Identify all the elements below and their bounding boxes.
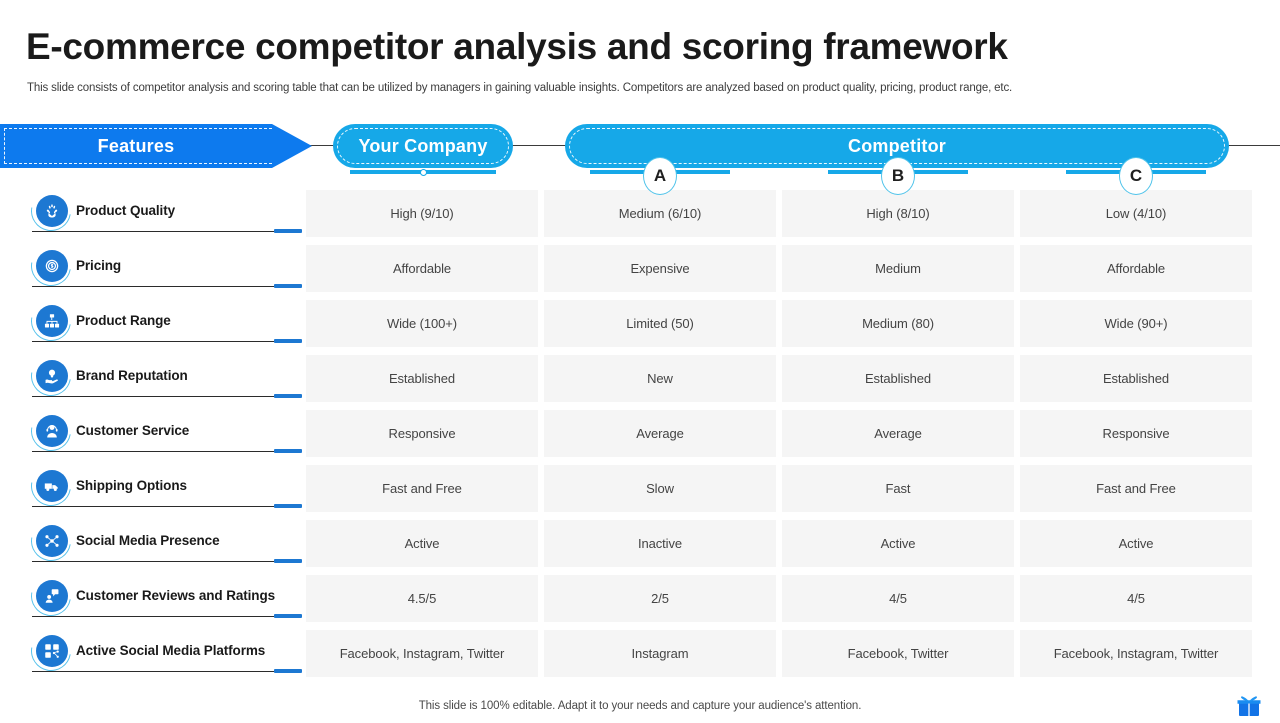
headset-agent-icon [36,415,68,447]
cell-text: Medium (6/10) [619,206,702,221]
feature-cell: Pricing [26,245,302,292]
cell-competitor-c: 4/5 [1020,575,1252,622]
cell-competitor-b: Average [782,410,1014,457]
cell-competitor-a: New [544,355,776,402]
table-row: Social Media Presence Active Inactive Ac… [0,520,1280,567]
table-row: Customer Reviews and Ratings 4.5/5 2/5 4… [0,575,1280,622]
cell-text: Established [389,371,455,386]
cell-competitor-c: Facebook, Instagram, Twitter [1020,630,1252,677]
cell-text: Facebook, Instagram, Twitter [1054,646,1219,661]
cell-text: Wide (90+) [1105,316,1168,331]
feature-rule-accent [274,284,302,288]
table-row: Shipping Options Fast and Free Slow Fast… [0,465,1280,512]
underline-notch [420,169,427,176]
footer-note: This slide is 100% editable. Adapt it to… [0,700,1280,712]
cell-your-company: Wide (100+) [306,300,538,347]
share-grid-icon [36,635,68,667]
cell-competitor-c: Responsive [1020,410,1252,457]
cell-text: 2/5 [651,591,669,606]
cell-text: Active [405,536,440,551]
feature-rule [32,506,302,507]
cell-competitor-c: Active [1020,520,1252,567]
cell-text: Wide (100+) [387,316,457,331]
table-row: Active Social Media Platforms Facebook, … [0,630,1280,677]
delivery-truck-icon [36,470,68,502]
hierarchy-boxes-icon [36,305,68,337]
cell-competitor-c: Affordable [1020,245,1252,292]
tab-features-label: Features [0,124,272,168]
cell-text: New [647,371,673,386]
feature-label: Product Range [76,300,171,340]
cell-text: Affordable [1107,261,1165,276]
cell-your-company: Facebook, Instagram, Twitter [306,630,538,677]
cell-competitor-a: Inactive [544,520,776,567]
feature-rule-accent [274,449,302,453]
tab-features[interactable]: Features [0,124,312,168]
feature-rule [32,286,302,287]
feature-label: Customer Reviews and Ratings [76,575,275,615]
feature-rule-accent [274,394,302,398]
cell-text: Facebook, Twitter [848,646,949,661]
cell-competitor-b: Established [782,355,1014,402]
competitor-badge-a[interactable]: A [643,157,677,195]
feature-rule-accent [274,229,302,233]
cell-text: Inactive [638,536,682,551]
cell-text: Responsive [389,426,456,441]
cell-text: Established [1103,371,1169,386]
feature-cell: Product Quality [26,190,302,237]
feature-cell: Active Social Media Platforms [26,630,302,677]
cell-competitor-a: Limited (50) [544,300,776,347]
cell-text: Medium [875,261,921,276]
connector-line-2 [508,145,570,146]
feature-rule-accent [274,614,302,618]
feature-label: Shipping Options [76,465,187,505]
cell-competitor-a: Average [544,410,776,457]
cell-text: High (8/10) [866,206,929,221]
cell-text: Facebook, Instagram, Twitter [340,646,505,661]
cell-competitor-b: Medium [782,245,1014,292]
cell-text: Medium (80) [862,316,934,331]
feature-cell: Customer Reviews and Ratings [26,575,302,622]
cell-text: High (9/10) [390,206,453,221]
feature-rule [32,341,302,342]
cell-text: Limited (50) [626,316,693,331]
feature-rule-accent [274,559,302,563]
cell-text: Slow [646,481,674,496]
cell-competitor-b: Medium (80) [782,300,1014,347]
feature-rule [32,561,302,562]
cell-text: Active [1119,536,1154,551]
cell-your-company: Active [306,520,538,567]
connector-line-3 [1224,145,1280,146]
cell-competitor-c: Established [1020,355,1252,402]
feature-rule [32,451,302,452]
person-review-icon [36,580,68,612]
competitor-badge-c-label: C [1130,166,1142,186]
cell-text: Fast and Free [1096,481,1176,496]
hand-badge-icon [36,360,68,392]
feature-rule-accent [274,339,302,343]
feature-cell: Brand Reputation [26,355,302,402]
cell-competitor-b: High (8/10) [782,190,1014,237]
page-title: E-commerce competitor analysis and scori… [26,26,1008,68]
cell-your-company: Affordable [306,245,538,292]
cell-competitor-c: Wide (90+) [1020,300,1252,347]
cell-your-company: 4.5/5 [306,575,538,622]
feature-rule-accent [274,669,302,673]
table-row: Product Quality High (9/10) Medium (6/10… [0,190,1280,237]
cell-text: Responsive [1103,426,1170,441]
cell-competitor-c: Fast and Free [1020,465,1252,512]
cell-text: Average [874,426,922,441]
table-row: Product Range Wide (100+) Limited (50) M… [0,300,1280,347]
cell-your-company: Responsive [306,410,538,457]
feature-cell: Shipping Options [26,465,302,512]
page-subtitle: This slide consists of competitor analys… [27,82,1012,94]
cell-text: 4.5/5 [408,591,436,606]
feature-cell: Product Range [26,300,302,347]
cell-competitor-b: Fast [782,465,1014,512]
network-nodes-icon [36,525,68,557]
cell-competitor-a: Expensive [544,245,776,292]
tab-your-company-underline [350,170,496,174]
feature-rule [32,671,302,672]
feature-label: Customer Service [76,410,189,450]
feature-rule [32,396,302,397]
cell-competitor-a: Medium (6/10) [544,190,776,237]
cell-text: Active [881,536,916,551]
cell-competitor-b: 4/5 [782,575,1014,622]
cell-text: 4/5 [889,591,907,606]
cell-competitor-a: Instagram [544,630,776,677]
cell-text: Instagram [632,646,689,661]
cell-your-company: High (9/10) [306,190,538,237]
dollar-coin-icon [36,250,68,282]
feature-rule [32,231,302,232]
hands-quality-icon [36,195,68,227]
cell-text: Established [865,371,931,386]
table-row: Pricing Affordable Expensive Medium Affo… [0,245,1280,292]
cell-your-company: Established [306,355,538,402]
feature-cell: Customer Service [26,410,302,457]
cell-text: Fast and Free [382,481,462,496]
cell-competitor-b: Facebook, Twitter [782,630,1014,677]
feature-cell: Social Media Presence [26,520,302,567]
cell-text: Affordable [393,261,451,276]
feature-label: Active Social Media Platforms [76,630,265,670]
feature-label: Pricing [76,245,121,285]
cell-text: Fast [886,481,911,496]
competitor-badge-b[interactable]: B [881,157,915,195]
feature-rule [32,616,302,617]
competitor-badge-b-label: B [892,166,904,186]
feature-rule-accent [274,504,302,508]
competitor-badge-a-label: A [654,166,666,186]
tab-your-company[interactable]: Your Company [333,124,513,168]
cell-your-company: Fast and Free [306,465,538,512]
open-box-logo-icon [1236,694,1262,718]
cell-competitor-c: Low (4/10) [1020,190,1252,237]
cell-competitor-a: 2/5 [544,575,776,622]
feature-label: Social Media Presence [76,520,219,560]
cell-competitor-b: Active [782,520,1014,567]
table-row: Customer Service Responsive Average Aver… [0,410,1280,457]
cell-competitor-a: Slow [544,465,776,512]
cell-text: Average [636,426,684,441]
tab-your-company-label: Your Company [333,124,513,168]
feature-label: Brand Reputation [76,355,188,395]
competitor-badge-c[interactable]: C [1119,157,1153,195]
cell-text: Low (4/10) [1106,206,1166,221]
cell-text: 4/5 [1127,591,1145,606]
table-row: Brand Reputation Established New Establi… [0,355,1280,402]
feature-label: Product Quality [76,190,175,230]
cell-text: Expensive [630,261,689,276]
